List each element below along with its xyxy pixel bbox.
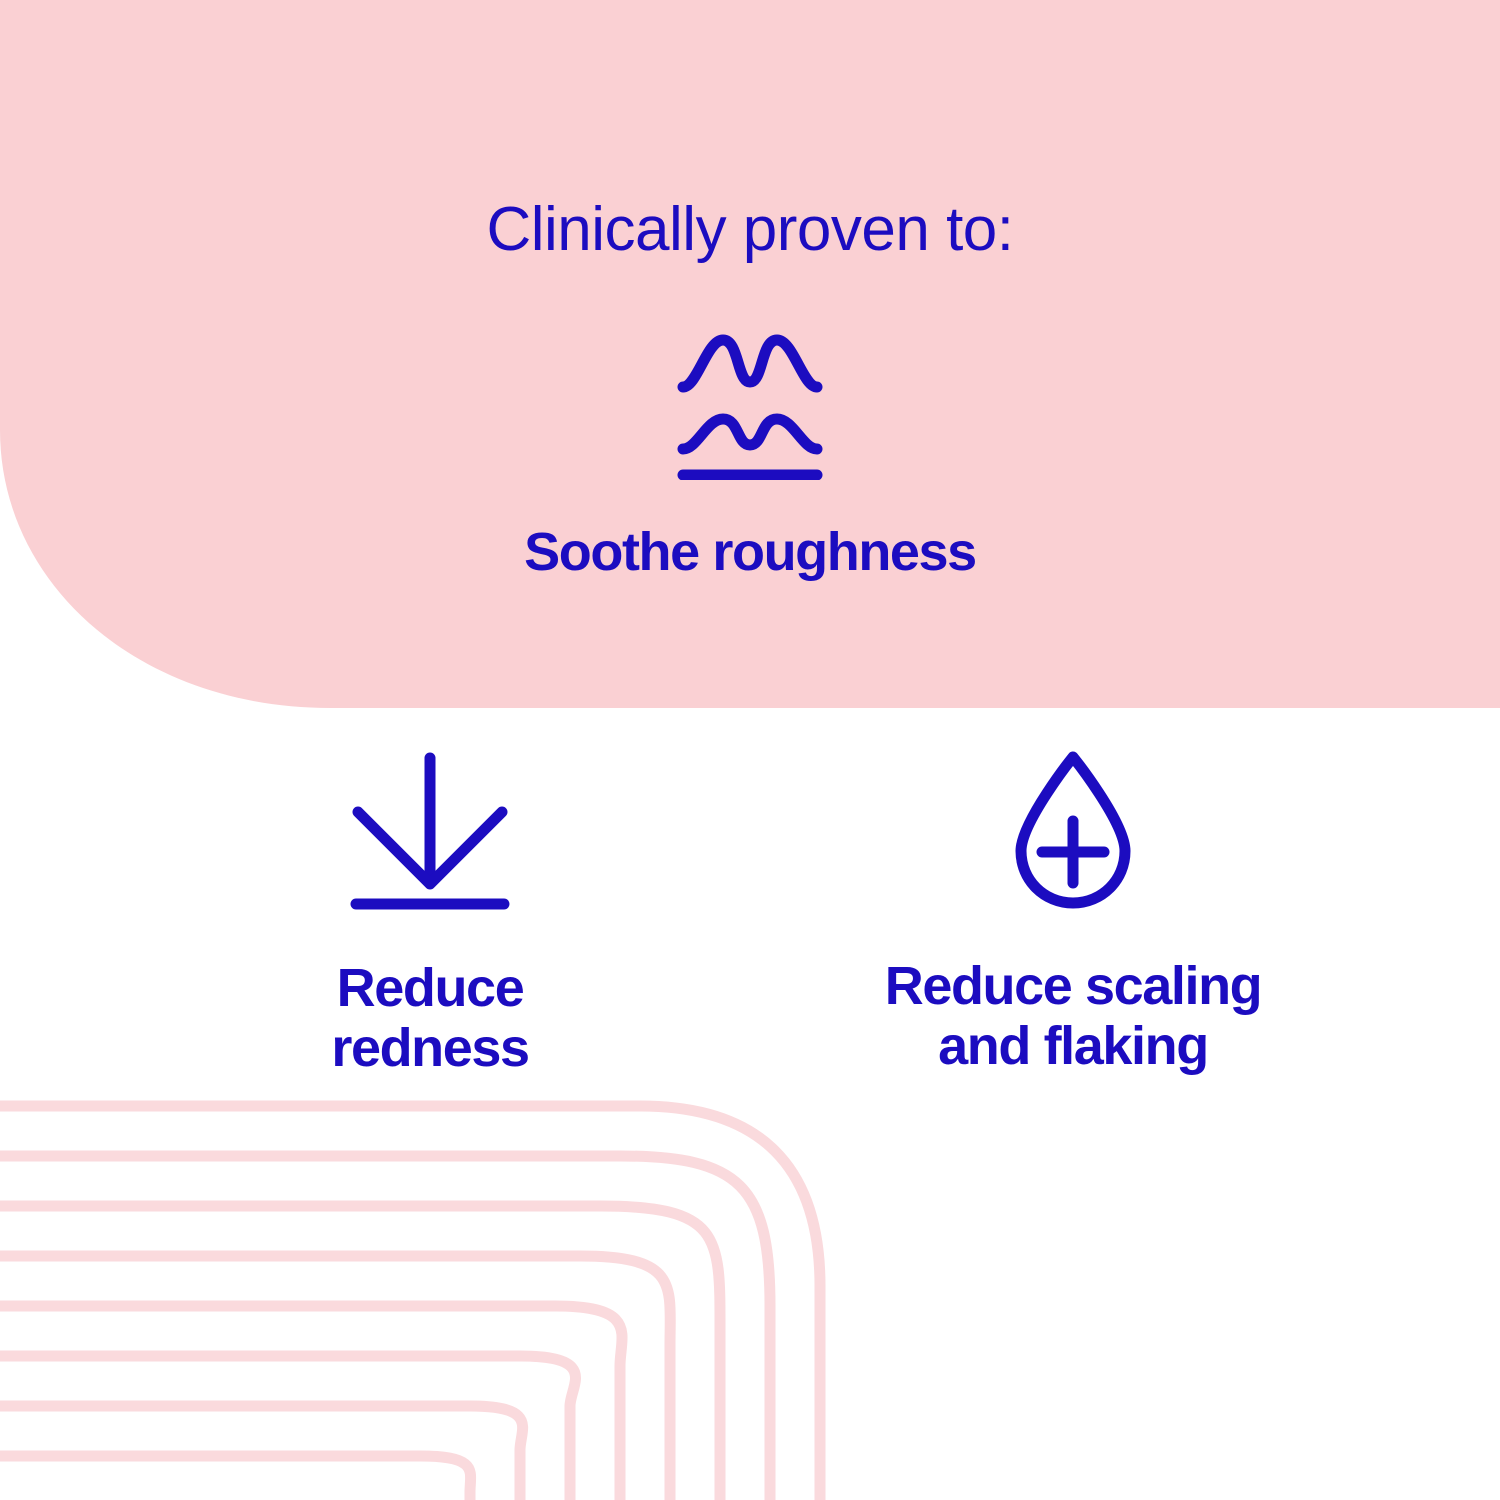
- arc-line: [0, 1156, 770, 1500]
- benefit-reduce-redness: Reduce redness: [130, 750, 730, 1079]
- arc-line: [0, 1206, 720, 1500]
- arc-line: [0, 1406, 523, 1500]
- benefit-label: Reduce redness: [331, 958, 528, 1079]
- arc-line: [0, 1106, 820, 1500]
- benefit-label: Reduce scaling and flaking: [885, 956, 1262, 1077]
- benefit-soothe-roughness: Soothe roughness: [250, 330, 1250, 582]
- page-title: Clinically proven to:: [0, 197, 1500, 262]
- pink-arcs-decoration: [0, 1100, 1000, 1500]
- arc-line: [0, 1356, 576, 1500]
- down-arrow-to-baseline-icon: [350, 750, 510, 910]
- arc-line: [0, 1306, 622, 1500]
- benefit-reduce-scaling-and-flaking: Reduce scaling and flaking: [773, 750, 1373, 1077]
- water-droplet-plus-icon: [1013, 750, 1133, 910]
- arc-line: [0, 1456, 471, 1500]
- arc-line: [0, 1256, 670, 1500]
- rough-to-smooth-waves-icon: [675, 330, 825, 480]
- promo-graphic: Clinically proven to: Soothe roughness R…: [0, 0, 1500, 1500]
- benefit-label: Soothe roughness: [524, 522, 976, 582]
